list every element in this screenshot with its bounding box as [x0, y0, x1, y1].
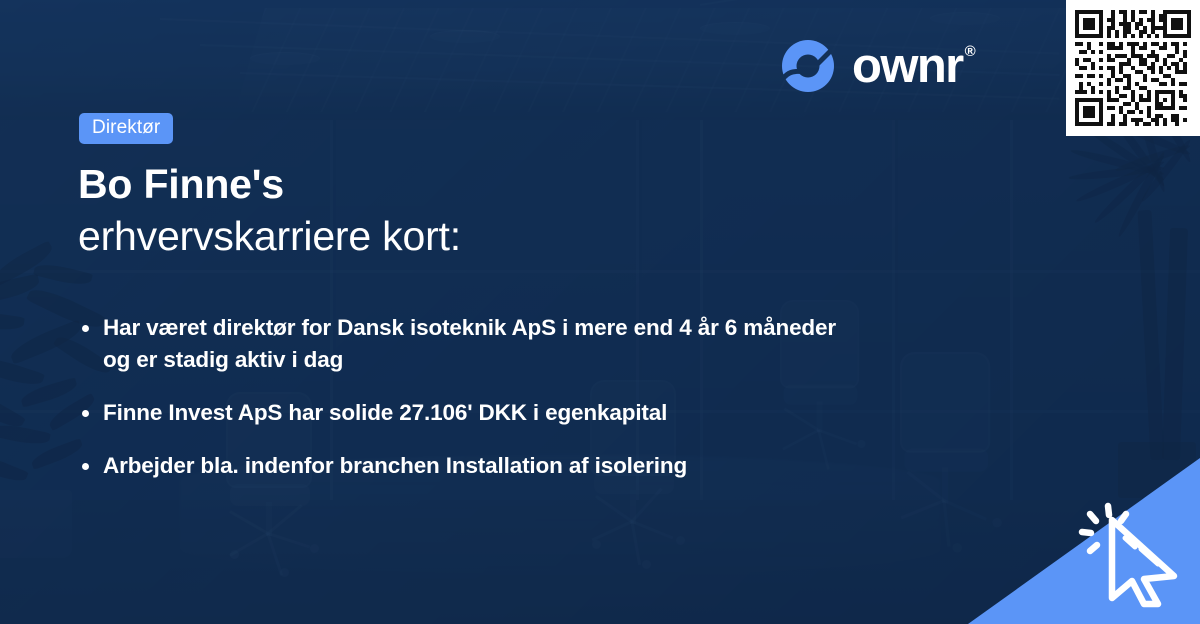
- corner-accent: [968, 458, 1200, 624]
- list-item: Har været direktør for Dansk isoteknik A…: [78, 312, 838, 376]
- click-cursor-icon: [1078, 502, 1182, 610]
- ownr-circle-swirl-icon: [778, 36, 838, 96]
- brand-wordmark: ownr ®: [852, 42, 976, 91]
- qr-code: [1075, 9, 1191, 127]
- registered-trademark-icon: ®: [965, 42, 976, 61]
- list-item: Arbejder bla. indenfor branchen Installa…: [78, 450, 838, 482]
- role-badge: Direktør: [79, 113, 173, 144]
- brand-logo[interactable]: ownr ®: [778, 36, 976, 96]
- page-title: Bo Finne's erhvervskarriere kort:: [78, 158, 461, 262]
- page-title-line-1: Bo Finne's: [78, 158, 461, 210]
- qr-code-panel[interactable]: [1066, 0, 1200, 136]
- career-facts-list: Har været direktør for Dansk isoteknik A…: [78, 312, 838, 503]
- list-item: Finne Invest ApS har solide 27.106' DKK …: [78, 397, 838, 429]
- business-career-card: Direktør Bo Finne's erhvervskarriere kor…: [0, 0, 1200, 624]
- brand-name: ownr: [852, 42, 963, 91]
- page-title-line-2: erhvervskarriere kort:: [78, 210, 461, 262]
